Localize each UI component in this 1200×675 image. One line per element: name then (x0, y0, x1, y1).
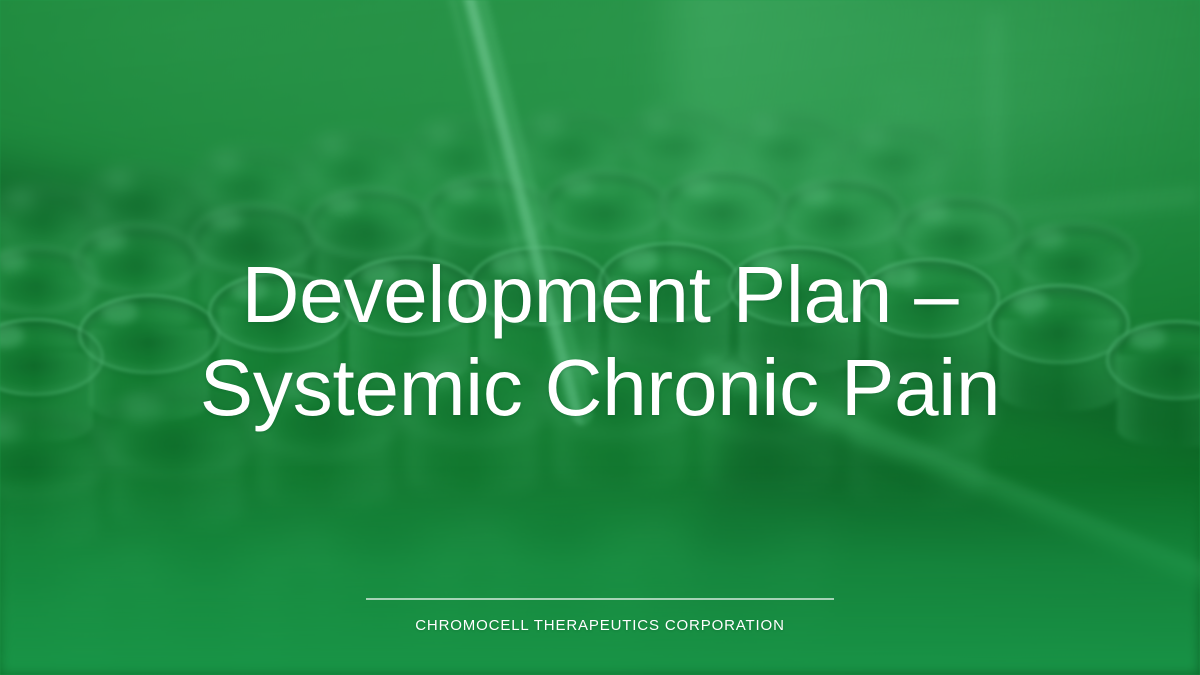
page-title-line-1: Development Plan – (90, 248, 1110, 341)
title-slide: Development Plan – Systemic Chronic Pain… (0, 0, 1200, 675)
page-title: Development Plan – Systemic Chronic Pain (0, 248, 1200, 434)
page-title-line-2: Systemic Chronic Pain (90, 341, 1110, 434)
footer-organization-name: CHROMOCELL THERAPEUTICS CORPORATION (415, 617, 785, 634)
slide-content: Development Plan – Systemic Chronic Pain… (0, 0, 1200, 675)
slide-footer: CHROMOCELL THERAPEUTICS CORPORATION (0, 598, 1200, 635)
footer-divider (366, 598, 834, 600)
